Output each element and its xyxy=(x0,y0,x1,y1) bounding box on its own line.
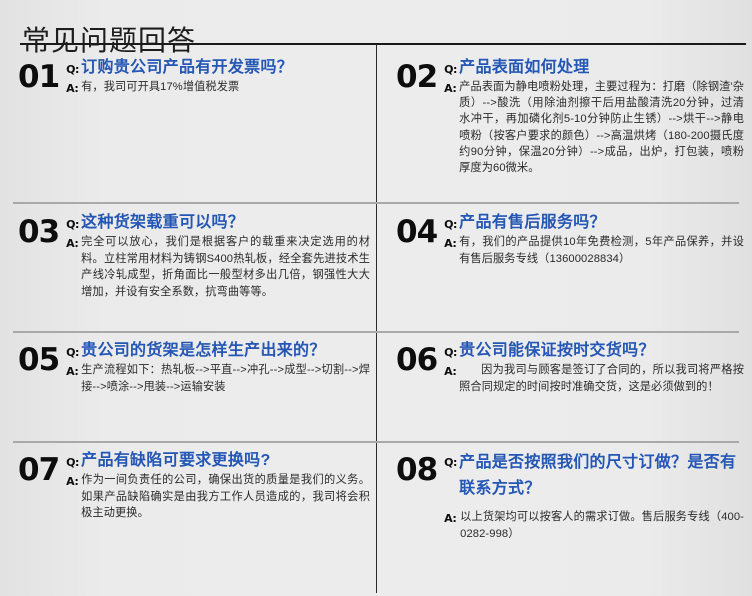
title-underline-rule xyxy=(20,43,746,45)
question-row: Q: 产品有售后服务吗？ xyxy=(444,212,744,234)
question-text: 贵公司的货架是怎样生产出来的？ xyxy=(81,340,370,362)
faq-number: 01 xyxy=(18,57,59,94)
answer-label: A: xyxy=(444,362,459,378)
question-row: Q: 订购贵公司产品有开发票吗？ xyxy=(66,57,370,79)
faq-item-06: 06 Q: 贵公司能保证按时交货吗？ A: 因为我司与顾客是签订了合同的，所以我… xyxy=(396,340,744,435)
faq-item-03: 03 Q: 这种货架载重可以吗？ A: 完全可以放心，我们是根据客户的载重来决定… xyxy=(18,212,370,324)
faq-body: Q: 产品有售后服务吗？ A: 有，我们的产品提供10年免费检测，5年产品保养，… xyxy=(444,212,744,267)
question-label: Q: xyxy=(66,57,81,76)
question-text: 产品表面如何处理 xyxy=(459,57,744,79)
question-row: Q: 贵公司的货架是怎样生产出来的？ xyxy=(66,340,370,362)
answer-label: A: xyxy=(444,509,460,525)
faq-item-04: 04 Q: 产品有售后服务吗？ A: 有，我们的产品提供10年免费检测，5年产品… xyxy=(396,212,744,324)
row-divider-3 xyxy=(13,441,739,443)
faq-number: 07 xyxy=(18,450,59,487)
answer-row: A: 以上货架均可以按客人的需求订做。售后服务专线（400-0282-998） xyxy=(444,509,744,542)
answer-label: A: xyxy=(66,79,81,95)
faq-page: 常见问题回答 01 Q: 订购贵公司产品有开发票吗？ A: 有，我司可开具17%… xyxy=(0,0,752,596)
question-row: Q: 产品有缺陷可要求更换吗? xyxy=(66,450,370,472)
faq-body: Q: 贵公司能保证按时交货吗？ A: 因为我司与顾客是签订了合同的，所以我司将严… xyxy=(444,340,744,395)
question-text: 订购贵公司产品有开发票吗？ xyxy=(81,57,370,79)
answer-row: A: 生产流程如下：热轧板-->平直-->冲孔-->成型-->切割-->焊接--… xyxy=(66,362,370,395)
faq-number: 08 xyxy=(396,450,437,487)
question-label: Q: xyxy=(66,450,81,469)
question-label: Q: xyxy=(444,212,459,231)
answer-row: A: 有，我司可开具17%增值税发票 xyxy=(66,79,370,96)
question-label: Q: xyxy=(444,57,459,76)
answer-label: A: xyxy=(66,472,81,488)
question-text: 贵公司能保证按时交货吗？ xyxy=(459,340,744,362)
faq-number: 05 xyxy=(18,340,59,377)
faq-body: Q: 产品有缺陷可要求更换吗? A: 作为一间负责任的公司，确保出货的质量是我们… xyxy=(66,450,370,522)
question-text: 产品有售后服务吗？ xyxy=(459,212,744,234)
answer-label: A: xyxy=(66,362,81,378)
question-text: 产品是否按照我们的尺寸订做？是否有联系方式？ xyxy=(459,450,744,502)
question-label: Q: xyxy=(444,450,459,469)
question-row: Q: 这种货架载重可以吗？ xyxy=(66,212,370,234)
question-row: Q: 贵公司能保证按时交货吗？ xyxy=(444,340,744,362)
faq-number: 06 xyxy=(396,340,437,377)
answer-label: A: xyxy=(444,79,459,95)
faq-body: Q: 产品表面如何处理 A: 产品表面为静电喷粉处理，主要过程为：打磨（除钢渣'… xyxy=(444,57,744,176)
faq-number: 04 xyxy=(396,212,437,249)
answer-text: 有，我们的产品提供10年免费检测，5年产品保养，并设有售后服务专线（136000… xyxy=(459,234,744,267)
column-divider xyxy=(376,45,377,593)
question-text: 这种货架载重可以吗？ xyxy=(81,212,370,234)
page-title: 常见问题回答 xyxy=(22,22,196,60)
faq-item-05: 05 Q: 贵公司的货架是怎样生产出来的？ A: 生产流程如下：热轧板-->平直… xyxy=(18,340,370,435)
row-divider-1 xyxy=(13,202,739,204)
question-row: Q: 产品是否按照我们的尺寸订做？是否有联系方式？ xyxy=(444,450,744,502)
question-label: Q: xyxy=(66,212,81,231)
answer-text: 生产流程如下：热轧板-->平直-->冲孔-->成型-->切割-->焊接-->喷涂… xyxy=(81,362,370,395)
answer-row: A: 完全可以放心，我们是根据客户的载重来决定选用的材料。立柱常用材料为铸钢S4… xyxy=(66,234,370,300)
faq-item-02: 02 Q: 产品表面如何处理 A: 产品表面为静电喷粉处理，主要过程为：打磨（除… xyxy=(396,57,744,197)
question-label: Q: xyxy=(444,340,459,359)
faq-item-07: 07 Q: 产品有缺陷可要求更换吗? A: 作为一间负责任的公司，确保出货的质量… xyxy=(18,450,370,585)
faq-item-01: 01 Q: 订购贵公司产品有开发票吗？ A: 有，我司可开具17%增值税发票 xyxy=(18,57,370,197)
faq-body: Q: 这种货架载重可以吗？ A: 完全可以放心，我们是根据客户的载重来决定选用的… xyxy=(66,212,370,300)
question-row: Q: 产品表面如何处理 xyxy=(444,57,744,79)
question-label: Q: xyxy=(66,340,81,359)
faq-body: Q: 贵公司的货架是怎样生产出来的？ A: 生产流程如下：热轧板-->平直-->… xyxy=(66,340,370,395)
answer-row: A: 有，我们的产品提供10年免费检测，5年产品保养，并设有售后服务专线（136… xyxy=(444,234,744,267)
answer-text: 以上货架均可以按客人的需求订做。售后服务专线（400-0282-998） xyxy=(460,509,744,542)
answer-text: 完全可以放心，我们是根据客户的载重来决定选用的材料。立柱常用材料为铸钢S400热… xyxy=(81,234,370,300)
answer-label: A: xyxy=(66,234,81,250)
answer-text: 有，我司可开具17%增值税发票 xyxy=(81,79,370,96)
answer-row: A: 产品表面为静电喷粉处理，主要过程为：打磨（除钢渣'杂质）-->酸洗（用除油… xyxy=(444,79,744,176)
answer-text: 产品表面为静电喷粉处理，主要过程为：打磨（除钢渣'杂质）-->酸洗（用除油剂擦干… xyxy=(459,79,744,176)
answer-text: 因为我司与顾客是签订了合同的，所以我司将严格按照合同规定的时间按时准确交货，这是… xyxy=(459,362,744,395)
faq-number: 03 xyxy=(18,212,59,249)
answer-label: A: xyxy=(444,234,459,250)
answer-text: 作为一间负责任的公司，确保出货的质量是我们的义务。如果产品缺陷确实是由我方工作人… xyxy=(81,472,370,522)
faq-item-08: 08 Q: 产品是否按照我们的尺寸订做？是否有联系方式？ A: 以上货架均可以按… xyxy=(396,450,744,585)
faq-body: Q: 订购贵公司产品有开发票吗？ A: 有，我司可开具17%增值税发票 xyxy=(66,57,370,96)
faq-number: 02 xyxy=(396,57,437,94)
answer-row: A: 因为我司与顾客是签订了合同的，所以我司将严格按照合同规定的时间按时准确交货… xyxy=(444,362,744,395)
faq-body: Q: 产品是否按照我们的尺寸订做？是否有联系方式？ A: 以上货架均可以按客人的… xyxy=(444,450,744,542)
answer-row: A: 作为一间负责任的公司，确保出货的质量是我们的义务。如果产品缺陷确实是由我方… xyxy=(66,472,370,522)
question-text: 产品有缺陷可要求更换吗? xyxy=(81,450,370,472)
row-divider-2 xyxy=(13,331,739,333)
